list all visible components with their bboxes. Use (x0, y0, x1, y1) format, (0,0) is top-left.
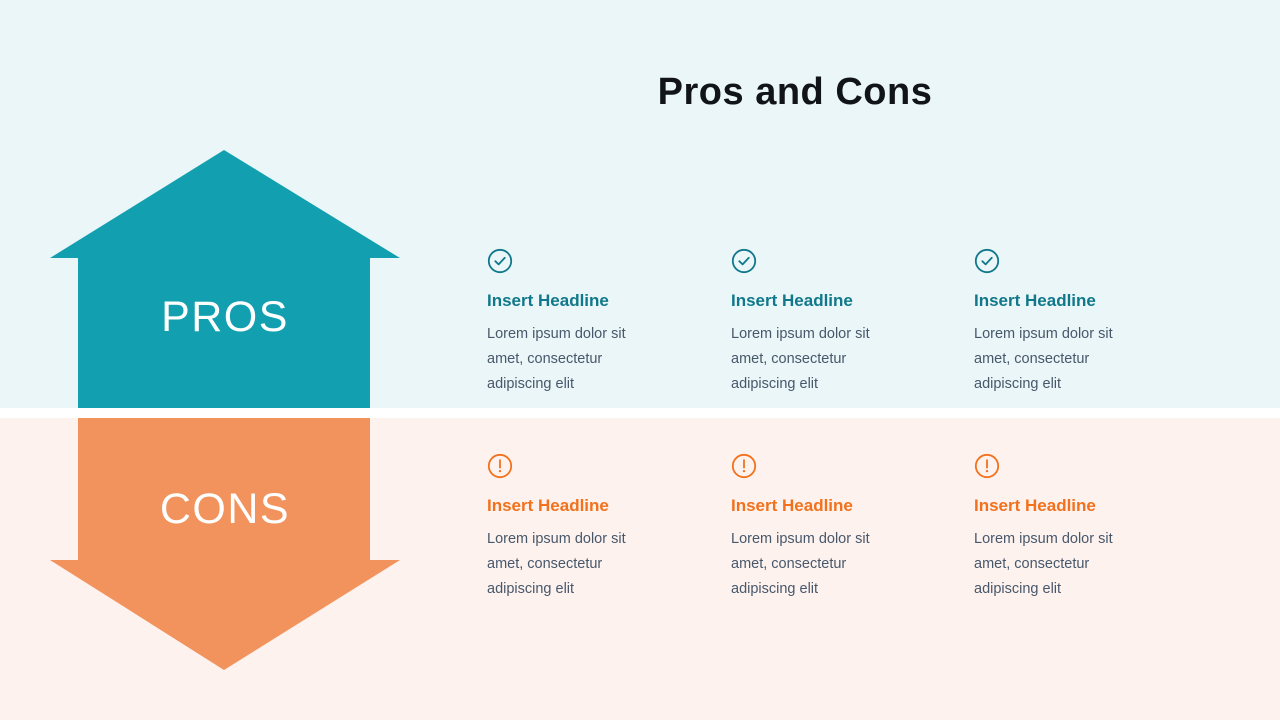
pros-column-3: Insert Headline Lorem ipsum dolor sit am… (974, 248, 1169, 397)
pros-arrow-label: PROS (50, 296, 400, 339)
cons-column-3: Insert Headline Lorem ipsum dolor sit am… (974, 453, 1169, 602)
pros-headline-2: Insert Headline (731, 291, 926, 311)
pros-body-3: Lorem ipsum dolor sit amet, consectetur … (974, 322, 1149, 397)
exclamation-circle-icon (487, 453, 513, 479)
cons-body-1: Lorem ipsum dolor sit amet, consectetur … (487, 527, 662, 602)
exclamation-circle-icon (974, 453, 1000, 479)
pros-body-1: Lorem ipsum dolor sit amet, consectetur … (487, 322, 662, 397)
pros-body-2: Lorem ipsum dolor sit amet, consectetur … (731, 322, 906, 397)
cons-headline-1: Insert Headline (487, 496, 682, 516)
cons-arrow-shape: CONS (50, 418, 400, 670)
pros-up-arrow-icon (50, 150, 400, 408)
cons-body-3: Lorem ipsum dolor sit amet, consectetur … (974, 527, 1149, 602)
exclamation-circle-icon (731, 453, 757, 479)
pros-column-2: Insert Headline Lorem ipsum dolor sit am… (731, 248, 926, 397)
pros-headline-1: Insert Headline (487, 291, 682, 311)
check-circle-icon (487, 248, 513, 274)
check-circle-icon (731, 248, 757, 274)
cons-down-arrow-icon (50, 418, 400, 670)
background-band-divider (0, 408, 1280, 418)
cons-body-2: Lorem ipsum dolor sit amet, consectetur … (731, 527, 906, 602)
cons-arrow-label: CONS (50, 488, 400, 531)
pros-arrow-shape: PROS (50, 150, 400, 408)
slide-canvas: Pros and Cons PROS CONS Insert Headline … (0, 0, 1280, 720)
pros-column-1: Insert Headline Lorem ipsum dolor sit am… (487, 248, 682, 397)
cons-headline-2: Insert Headline (731, 496, 926, 516)
cons-column-2: Insert Headline Lorem ipsum dolor sit am… (731, 453, 926, 602)
cons-column-1: Insert Headline Lorem ipsum dolor sit am… (487, 453, 682, 602)
page-title: Pros and Cons (0, 72, 1280, 114)
check-circle-icon (974, 248, 1000, 274)
pros-headline-3: Insert Headline (974, 291, 1169, 311)
cons-headline-3: Insert Headline (974, 496, 1169, 516)
